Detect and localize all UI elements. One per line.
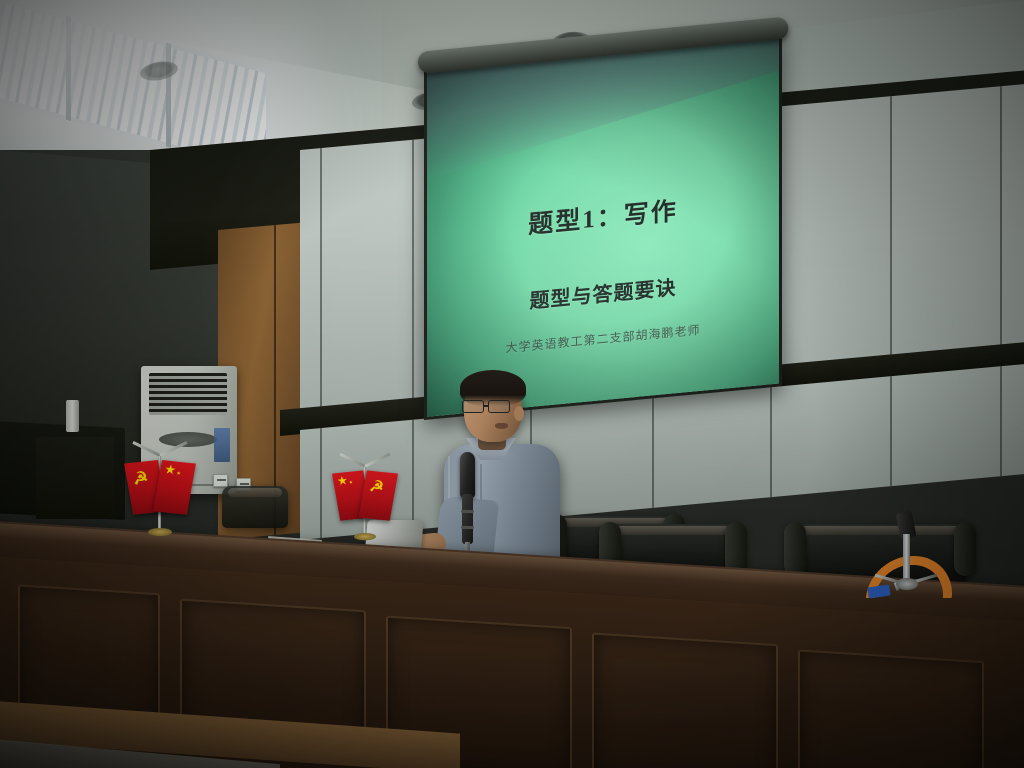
dark-cabinet-secondary [36,437,114,519]
glasses-lens [462,400,484,413]
flag-arm [340,453,366,468]
star-large-icon: ★ [336,473,348,488]
slide-subtitle: 题型与答题要诀 [427,261,779,323]
star-small-icon: ★ [176,470,181,478]
glasses-icon [462,400,516,413]
troffer-bar [166,43,171,148]
projector-screen-frame: 题型1：写作 题型与答题要诀 大学英语教工第二支部胡海鹏老师 [424,28,782,420]
glasses-lens [488,400,510,413]
microphone-ring [461,526,474,529]
flag-stand-base [354,533,376,540]
chair-top-rail [616,526,730,535]
projector-screen: 题型1：写作 题型与答题要诀 大学英语教工第二支部胡海鹏老师 [424,52,784,424]
star-icon: ★ ★ [336,476,361,495]
chair-top-rail [228,488,282,497]
wall-panel-seam [412,420,414,530]
slide-byline: 大学英语教工第二支部胡海鹏老师 [427,313,779,363]
microphone-ring [461,510,474,513]
ac-label [214,428,230,462]
microphone-body [462,494,473,544]
star-icon: ★ ★ [162,465,189,485]
chair-bolster [784,522,806,576]
wall-panel-seam [320,148,322,448]
flag-stand-base [148,528,172,536]
wall-panel-seam [320,428,322,538]
presenter-mouth [495,423,508,429]
hammer-sickle-icon: ☭ [131,469,157,493]
hammer-sickle-icon: ☭ [368,478,392,500]
flag-arm [132,441,160,457]
star-small-icon: ★ [348,479,352,487]
tripod-hub [896,578,918,590]
ac-grille [149,373,227,415]
chair-bolster [954,522,976,576]
wall-panel-seam [412,140,414,440]
desk-front-panel [592,633,778,768]
star-large-icon: ★ [163,461,176,477]
wall-panel-seam [890,96,892,396]
prc-national-flag: ★ ★ [153,460,196,515]
conference-chair[interactable] [222,486,288,528]
photo-scene: 题型1：写作 题型与答题要诀 大学英语教工第二支部胡海鹏老师 [0,0,1024,768]
wall-panel-seam [1000,86,1002,386]
white-cylinder-object [66,400,79,432]
projector-screen-surface: 题型1：写作 题型与答题要诀 大学英语教工第二支部胡海鹏老师 [427,31,779,416]
glasses-bridge [483,405,489,407]
desk-front-panel [798,649,984,768]
slide-title: 题型1：写作 [427,181,779,250]
troffer-bar [66,16,71,121]
flag-arm [364,453,390,468]
camera-tripod[interactable] [876,512,942,608]
flag-arm [159,441,187,457]
microphone-capsule [460,452,475,498]
wall-panel-seam [890,376,892,486]
ccp-party-flag: ☭ [359,470,398,520]
desk-flag-set-left: ☭ ★ ★ [120,440,200,540]
desk-flag-set-right: ★ ★ ☭ [328,452,402,544]
wall-panel-seam [1000,366,1002,476]
